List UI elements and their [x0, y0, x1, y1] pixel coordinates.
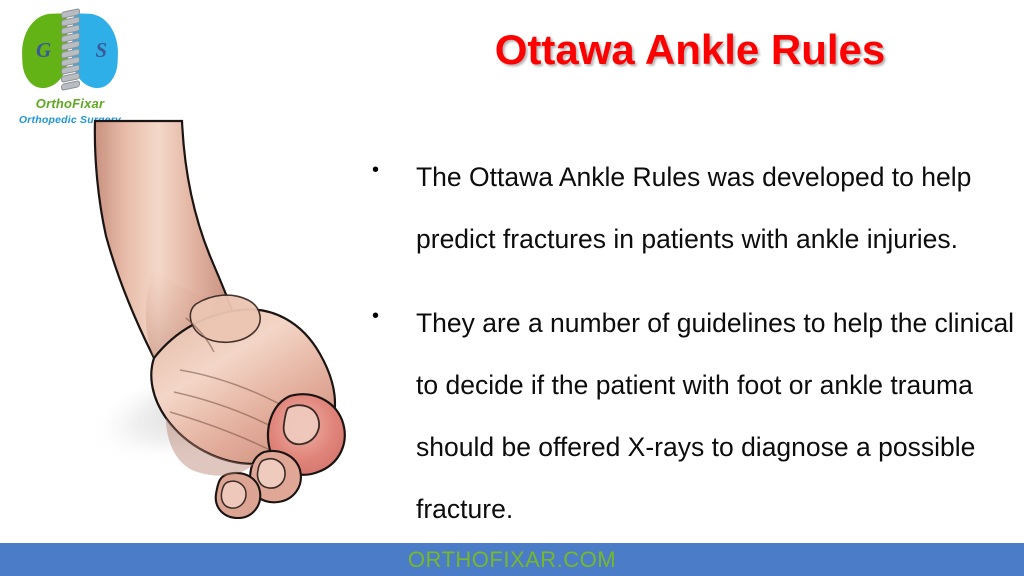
illustration-second-toenail: [257, 459, 285, 488]
footer-website-text: ORTHOFIXAR.COM: [408, 547, 616, 573]
list-item: • The Ottawa Ankle Rules was developed t…: [372, 146, 1017, 270]
logo-glyph-right: S: [95, 38, 106, 63]
ankle-foot-illustration: [58, 108, 378, 544]
footer-bar: ORTHOFIXAR.COM: [0, 543, 1024, 576]
spine-icon: [59, 8, 81, 96]
page-title: Ottawa Ankle Rules: [370, 26, 1010, 74]
bullet-marker-icon: •: [372, 292, 416, 326]
illustration-malleolus: [190, 295, 260, 342]
bullet-list: • The Ottawa Ankle Rules was developed t…: [372, 146, 1017, 562]
bullet-text: The Ottawa Ankle Rules was developed to …: [416, 146, 1017, 270]
list-item: • They are a number of guidelines to hel…: [372, 292, 1017, 540]
slide-canvas: G S OrthoFixar Orthopedic Surgery Ottawa…: [0, 0, 1024, 576]
logo-glyph-left: G: [36, 38, 50, 63]
illustration-great-toenail: [284, 405, 319, 444]
illustration-third-toenail: [221, 481, 246, 508]
bullet-marker-icon: •: [372, 146, 416, 180]
logo-mark: G S: [20, 8, 120, 94]
bullet-text: They are a number of guidelines to help …: [416, 292, 1017, 540]
